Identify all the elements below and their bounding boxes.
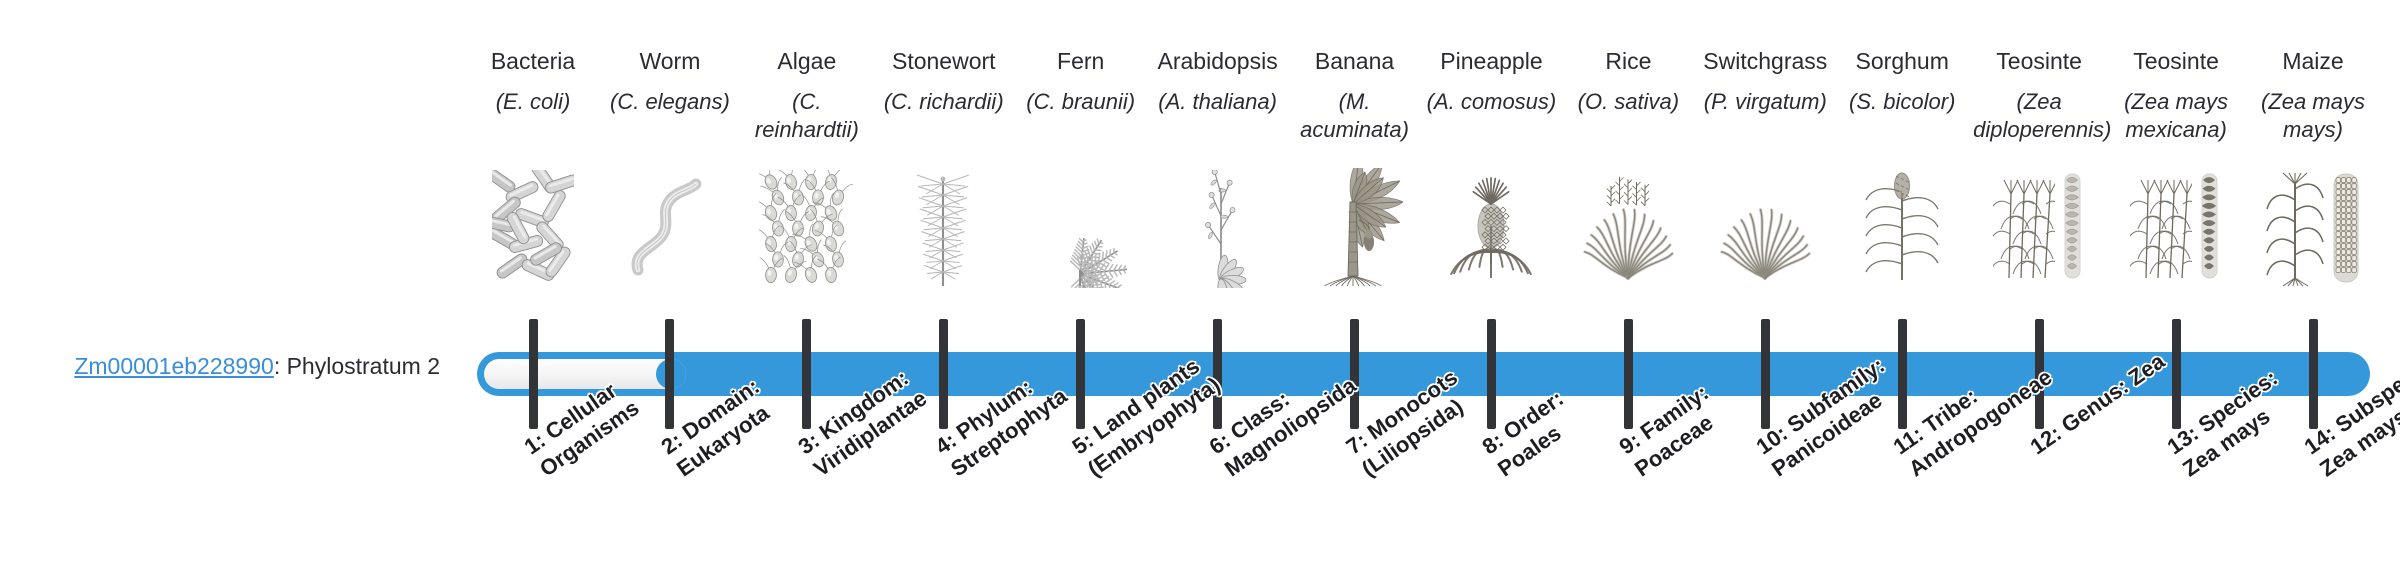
species-common-name: Arabidopsis	[1152, 46, 1284, 76]
tick-mark-1	[529, 319, 538, 429]
species-common-name: Switchgrass	[1699, 46, 1831, 76]
species-scientific-name: (Zea mays mays)	[2247, 88, 2379, 144]
species-scientific-name: (A. comosus)	[1425, 88, 1557, 116]
teosinte-mexicana-illustration	[2110, 168, 2242, 288]
species-column-14: Maize (Zea mays mays)	[2247, 46, 2379, 144]
teosinte-diploperennis-illustration	[1973, 168, 2105, 288]
fern-illustration	[1015, 168, 1147, 288]
tick-mark-13	[2172, 319, 2181, 429]
species-scientific-name: (Zea mays mexicana)	[2110, 88, 2242, 144]
species-common-name: Rice	[1562, 46, 1694, 76]
gene-row-label: Zm00001eb228990: Phylostratum 2	[40, 351, 440, 381]
species-common-name: Maize	[2247, 46, 2379, 76]
switchgrass-illustration	[1699, 168, 1831, 288]
species-scientific-name: (A. thaliana)	[1152, 88, 1284, 116]
species-column-12: Teosinte (Zea diploperennis)	[1973, 46, 2105, 144]
species-column-5: Fern (C. braunii)	[1015, 46, 1147, 116]
species-common-name: Stonewort	[878, 46, 1010, 76]
species-column-2: Worm (C. elegans)	[604, 46, 736, 116]
species-common-name: Fern	[1015, 46, 1147, 76]
pineapple-illustration	[1425, 168, 1557, 288]
species-scientific-name: (Zea diploperennis)	[1973, 88, 2105, 144]
species-scientific-name: (S. bicolor)	[1836, 88, 1968, 116]
species-column-3: Algae (C. reinhardtii)	[741, 46, 873, 144]
worm-illustration	[604, 168, 736, 288]
species-column-10: Switchgrass (P. virgatum)	[1699, 46, 1831, 116]
species-common-name: Teosinte	[1973, 46, 2105, 76]
gene-id-link[interactable]: Zm00001eb228990	[74, 353, 274, 379]
species-column-6: Arabidopsis (A. thaliana)	[1152, 46, 1284, 116]
species-common-name: Algae	[741, 46, 873, 76]
species-common-name: Sorghum	[1836, 46, 1968, 76]
arabidopsis-illustration	[1152, 168, 1284, 288]
species-scientific-name: (C. braunii)	[1015, 88, 1147, 116]
species-common-name: Bacteria	[467, 46, 599, 76]
species-common-name: Teosinte	[2110, 46, 2242, 76]
species-column-11: Sorghum (S. bicolor)	[1836, 46, 1968, 116]
species-common-name: Pineapple	[1425, 46, 1557, 76]
species-common-name: Worm	[604, 46, 736, 76]
species-column-9: Rice (O. sativa)	[1562, 46, 1694, 116]
species-scientific-name: (C. richardii)	[878, 88, 1010, 116]
species-scientific-name: (C. reinhardtii)	[741, 88, 873, 144]
species-column-7: Banana (M. acuminata)	[1289, 46, 1421, 144]
species-column-8: Pineapple (A. comosus)	[1425, 46, 1557, 116]
species-column-4: Stonewort (C. richardii)	[878, 46, 1010, 116]
maize-illustration	[2247, 168, 2379, 288]
sorghum-illustration	[1836, 168, 1968, 288]
algae-illustration	[741, 168, 873, 288]
gene-phylostratum-text: Phylostratum 2	[287, 353, 440, 379]
stonewort-illustration	[878, 168, 1010, 288]
species-scientific-name: (M. acuminata)	[1289, 88, 1421, 144]
phylostratigraphy-figure: Bacteria (E. coli)Worm (C. elegans)Algae…	[0, 0, 2400, 580]
species-column-1: Bacteria (E. coli)	[467, 46, 599, 116]
gene-separator: :	[274, 353, 287, 379]
species-scientific-name: (E. coli)	[467, 88, 599, 116]
bacteria-illustration	[467, 168, 599, 288]
species-scientific-name: (C. elegans)	[604, 88, 736, 116]
species-column-13: Teosinte (Zea mays mexicana)	[2110, 46, 2242, 144]
species-common-name: Banana	[1289, 46, 1421, 76]
species-scientific-name: (P. virgatum)	[1699, 88, 1831, 116]
banana-illustration	[1289, 168, 1421, 288]
rice-illustration	[1562, 168, 1694, 288]
species-scientific-name: (O. sativa)	[1562, 88, 1694, 116]
